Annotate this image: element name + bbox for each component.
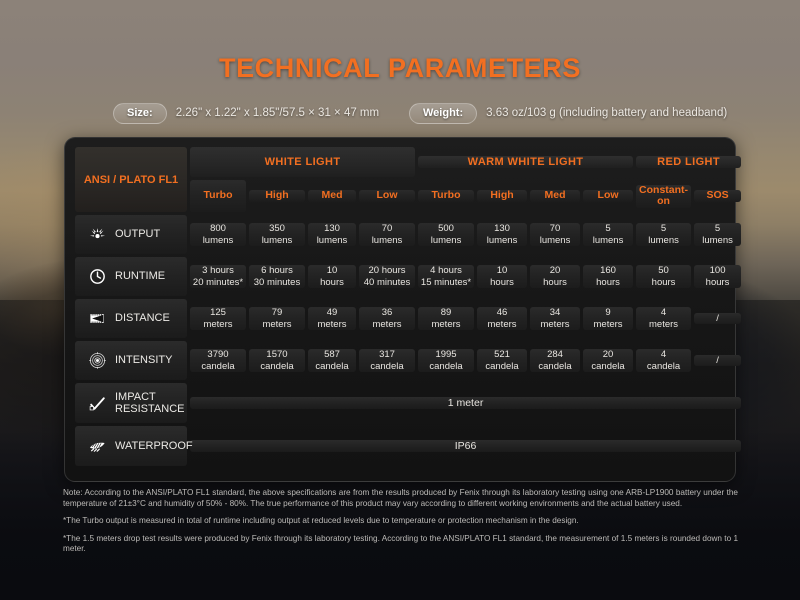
cell-value: 4 — [661, 307, 666, 319]
data-cell: 5lumens — [636, 223, 691, 246]
impact-check-icon — [88, 394, 107, 413]
data-cell: 5lumens — [694, 223, 741, 246]
data-cell: 6 hours30 minutes — [249, 265, 305, 288]
cell-unit: candela — [485, 361, 518, 373]
cell-value: 89 — [441, 307, 452, 319]
data-cell: 20candela — [583, 349, 633, 372]
cell-unit: hours — [490, 277, 514, 289]
footnotes: Note: According to the ANSI/PLATO FL1 st… — [63, 488, 738, 555]
cell-value: 34 — [550, 307, 561, 319]
cell-value: 5 — [715, 223, 720, 235]
mode-warm-med: Med — [530, 190, 580, 202]
cell-value: 6 hours — [261, 265, 293, 277]
data-cell: 587candela — [308, 349, 356, 372]
data-cell: 4 hours15 minutes* — [418, 265, 474, 288]
data-cell: 160hours — [583, 265, 633, 288]
cell-value: 20 hours — [369, 265, 406, 277]
cell-unit: meters — [649, 319, 678, 331]
cell-unit: meters — [431, 319, 460, 331]
group-header-row: ANSI / PLATO FL1 WHITE LIGHT WARM WHITE … — [75, 147, 741, 177]
cell-unit: candela — [591, 361, 624, 373]
parameters-table-card: ANSI / PLATO FL1 WHITE LIGHT WARM WHITE … — [64, 137, 736, 482]
cell-unit: meters — [372, 319, 401, 331]
mode-warm-turbo: Turbo — [418, 190, 474, 202]
row-label-text: RUNTIME — [115, 270, 165, 283]
weight-spec: Weight: 3.63 oz/103 g (including battery… — [409, 102, 727, 124]
size-spec: Size: 2.26" x 1.22" x 1.85"/57.5 × 31 × … — [113, 102, 379, 124]
waterproof-value: IP66 — [190, 440, 741, 452]
row-label-text: WATERPROOF — [115, 440, 193, 453]
cell-value: 3 hours — [202, 265, 234, 277]
data-cell: 800lumens — [190, 223, 246, 246]
mode-white-low: Low — [359, 190, 415, 202]
data-cell: 89meters — [418, 307, 474, 330]
cell-value: 70 — [382, 223, 393, 235]
impact-resistance-value: 1 meter — [190, 397, 741, 409]
cell-unit: candela — [647, 361, 680, 373]
row-label-output: OUTPUT — [75, 215, 187, 254]
data-cell: 4meters — [636, 307, 691, 330]
data-cell: 20hours — [530, 265, 580, 288]
data-cell: 125meters — [190, 307, 246, 330]
data-cell: 500lumens — [418, 223, 474, 246]
cell-value: 5 — [605, 223, 610, 235]
cell-unit: lumens — [540, 235, 571, 247]
data-cell: 36meters — [359, 307, 415, 330]
cell-unit: meters — [540, 319, 569, 331]
cell-value: 20 — [603, 349, 614, 361]
cell-unit: lumens — [648, 235, 679, 247]
cell-value: 130 — [494, 223, 510, 235]
weight-value: 3.63 oz/103 g (including battery and hea… — [486, 107, 727, 119]
cell-unit: candela — [429, 361, 462, 373]
mode-white-high: High — [249, 190, 305, 202]
data-cell: / — [694, 313, 741, 325]
group-red-light: RED LIGHT — [636, 156, 741, 168]
cell-unit: lumens — [372, 235, 403, 247]
cell-unit: 40 minutes — [364, 277, 410, 289]
page-title: TECHNICAL PARAMETERS — [0, 53, 800, 84]
data-cell: / — [694, 355, 741, 367]
data-cell: 49meters — [308, 307, 356, 330]
cell-value: 79 — [272, 307, 283, 319]
cell-value: 587 — [324, 349, 340, 361]
cell-value: 1995 — [435, 349, 456, 361]
intensity-target-icon — [88, 351, 107, 370]
cell-value: 100 — [710, 265, 726, 277]
data-cell: 521candela — [477, 349, 527, 372]
data-cell: 3 hours20 minutes* — [190, 265, 246, 288]
cell-value: 130 — [324, 223, 340, 235]
cell-value: 20 — [550, 265, 561, 277]
row-label-text: INTENSITY — [115, 354, 172, 367]
cell-unit: lumens — [317, 235, 348, 247]
table-row: INTENSITY 3790candela 1570candela 587can… — [75, 341, 741, 380]
cell-unit: hours — [652, 277, 676, 289]
cell-value: 284 — [547, 349, 563, 361]
data-cell: 10hours — [477, 265, 527, 288]
cell-value: 317 — [379, 349, 395, 361]
data-cell: 70lumens — [530, 223, 580, 246]
group-warm-white-light: WARM WHITE LIGHT — [418, 156, 633, 168]
cell-value: 9 — [605, 307, 610, 319]
group-white-light: WHITE LIGHT — [190, 147, 415, 177]
cell-value: 36 — [382, 307, 393, 319]
cell-unit: lumens — [593, 235, 624, 247]
mode-warm-high: High — [477, 190, 527, 202]
row-label-runtime: RUNTIME — [75, 257, 187, 296]
data-cell: 50hours — [636, 265, 691, 288]
clock-icon — [88, 267, 107, 286]
impact-label-line2: RESISTANCE — [115, 403, 184, 415]
cell-value: 10 — [497, 265, 508, 277]
data-cell: 34meters — [530, 307, 580, 330]
cell-unit: lumens — [203, 235, 234, 247]
row-label-waterproof: WATERPROOF — [75, 426, 187, 466]
row-label-text: OUTPUT — [115, 228, 160, 241]
data-cell: 1995candela — [418, 349, 474, 372]
data-cell: 4candela — [636, 349, 691, 372]
data-cell: 3790candela — [190, 349, 246, 372]
mode-white-med: Med — [308, 190, 356, 202]
cell-unit: meters — [487, 319, 516, 331]
cell-value: 500 — [438, 223, 454, 235]
cell-value: 160 — [600, 265, 616, 277]
footnote-note: Note: According to the ANSI/PLATO FL1 st… — [63, 488, 738, 509]
cell-unit: lumens — [262, 235, 293, 247]
footnote-turbo: *The Turbo output is measured in total o… — [63, 516, 738, 527]
burst-icon — [88, 225, 107, 244]
data-cell: 100hours — [694, 265, 741, 288]
data-cell: 130lumens — [477, 223, 527, 246]
data-cell: 317candela — [359, 349, 415, 372]
table-row: OUTPUT 800lumens 350lumens 130lumens 70l… — [75, 215, 741, 254]
data-cell: 70lumens — [359, 223, 415, 246]
mode-red-constant-on: Constant-on — [636, 185, 691, 208]
cell-unit: hours — [596, 277, 620, 289]
impact-label-line1: IMPACT — [115, 391, 156, 403]
cell-value: 1570 — [266, 349, 287, 361]
cell-unit: meters — [317, 319, 346, 331]
data-cell: 79meters — [249, 307, 305, 330]
weight-label: Weight: — [409, 103, 477, 124]
cell-unit: candela — [260, 361, 293, 373]
cell-unit: meters — [594, 319, 623, 331]
row-label-text: IMPACT RESISTANCE — [115, 391, 184, 416]
cell-unit: candela — [370, 361, 403, 373]
cell-unit: 30 minutes — [254, 277, 300, 289]
footnote-drop-test: *The 1.5 meters drop test results were p… — [63, 534, 738, 555]
cell-unit: lumens — [431, 235, 462, 247]
cell-unit: meters — [262, 319, 291, 331]
cell-value: / — [716, 313, 719, 325]
cell-value: 3790 — [207, 349, 228, 361]
table-row: IMPACT RESISTANCE 1 meter — [75, 383, 741, 423]
size-value: 2.26" x 1.22" x 1.85"/57.5 × 31 × 47 mm — [176, 107, 379, 119]
cell-value: 521 — [494, 349, 510, 361]
cell-value: 4 hours — [430, 265, 462, 277]
table-row: DISTANCE 125meters 79meters 49meters 36m… — [75, 299, 741, 338]
beam-distance-icon — [88, 309, 107, 328]
cell-value: 70 — [550, 223, 561, 235]
row-label-distance: DISTANCE — [75, 299, 187, 338]
row-label-text: DISTANCE — [115, 312, 170, 325]
cell-value: 800 — [210, 223, 226, 235]
cell-unit: hours — [543, 277, 567, 289]
mode-red-sos: SOS — [694, 190, 741, 202]
cell-value: 49 — [327, 307, 338, 319]
cell-unit: 20 minutes* — [193, 277, 243, 289]
cell-value: 125 — [210, 307, 226, 319]
cell-value: 5 — [661, 223, 666, 235]
mode-warm-low: Low — [583, 190, 633, 202]
cell-unit: lumens — [702, 235, 733, 247]
cell-unit: lumens — [487, 235, 518, 247]
cell-unit: meters — [203, 319, 232, 331]
cell-value: 350 — [269, 223, 285, 235]
data-cell: 350lumens — [249, 223, 305, 246]
cell-value: 4 — [661, 349, 666, 361]
ansi-plato-label: ANSI / PLATO FL1 — [75, 147, 187, 212]
data-cell: 46meters — [477, 307, 527, 330]
data-cell: 9meters — [583, 307, 633, 330]
data-cell: 5lumens — [583, 223, 633, 246]
cell-value: / — [716, 355, 719, 367]
mode-white-turbo: Turbo — [190, 180, 246, 212]
cell-value: 46 — [497, 307, 508, 319]
waterproof-icon — [88, 437, 107, 456]
row-label-impact-resistance: IMPACT RESISTANCE — [75, 383, 187, 423]
parameters-table: ANSI / PLATO FL1 WHITE LIGHT WARM WHITE … — [72, 144, 744, 469]
data-cell: 20 hours40 minutes — [359, 265, 415, 288]
cell-unit: hours — [706, 277, 730, 289]
cell-unit: candela — [201, 361, 234, 373]
technical-parameters-page: TECHNICAL PARAMETERS Size: 2.26" x 1.22"… — [0, 0, 800, 600]
cell-value: 50 — [658, 265, 669, 277]
table-row: WATERPROOF IP66 — [75, 426, 741, 466]
cell-unit: candela — [538, 361, 571, 373]
data-cell: 10hours — [308, 265, 356, 288]
size-label: Size: — [113, 103, 167, 124]
data-cell: 284candela — [530, 349, 580, 372]
table-row: RUNTIME 3 hours20 minutes* 6 hours30 min… — [75, 257, 741, 296]
cell-unit: hours — [320, 277, 344, 289]
cell-unit: 15 minutes* — [421, 277, 471, 289]
cell-unit: candela — [315, 361, 348, 373]
row-label-intensity: INTENSITY — [75, 341, 187, 380]
cell-value: 10 — [327, 265, 338, 277]
data-cell: 130lumens — [308, 223, 356, 246]
data-cell: 1570candela — [249, 349, 305, 372]
